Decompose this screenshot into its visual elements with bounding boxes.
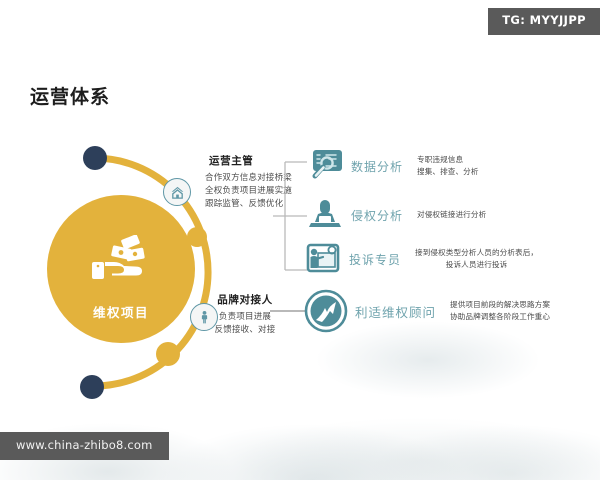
hand-money-icon [90, 235, 152, 285]
home-icon [170, 185, 185, 200]
block-heading: 品牌对接人 [193, 292, 297, 307]
role-desc-line: 对侵权链接进行分析 [417, 209, 486, 221]
role-desc-line: 协助品牌调整各阶段工作重心 [450, 311, 550, 323]
role-desc-line: 专职违规信息 [417, 154, 479, 166]
role-row-data-analysis: 数据分析 专职违规信息 搜集、排查、分析 [305, 146, 479, 186]
page-title: 运营体系 [30, 82, 110, 109]
home-node [163, 178, 191, 206]
gold-dot-bottom [156, 342, 180, 366]
role-row-infringement-analysis: 侵权分析 对侵权链接进行分析 [305, 195, 486, 235]
role-title: 利适维权顾问 [355, 302, 436, 321]
tg-watermark-tag: TG: MYYJJPP [488, 8, 600, 35]
role-desc-line: 搜集、排查、分析 [417, 166, 479, 178]
navy-dot-bottom [80, 375, 104, 399]
role-row-complaint-specialist: 投诉专员 接到侵权类型分析人员的分析表后， 投诉人员进行投诉 [303, 239, 538, 279]
block-line: 反馈接收、对接 [193, 324, 297, 337]
role-row-rights-advisor: 利适维权顾问 提供项目前段的解决思路方案 协助品牌调整各阶段工作重心 [303, 288, 550, 334]
role-desc: 对侵权链接进行分析 [417, 209, 486, 221]
monitor-search-icon [305, 146, 345, 186]
person-desk-icon [305, 195, 345, 235]
hub-circle: 维权项目 [47, 195, 195, 343]
block-body: 负责项目进展 反馈接收、对接 [193, 311, 297, 337]
site-url-watermark: www.china-zhibo8.com [0, 432, 169, 461]
role-title: 投诉专员 [349, 251, 401, 268]
role-desc: 接到侵权类型分析人员的分析表后， 投诉人员进行投诉 [415, 247, 538, 271]
hub-label: 维权项目 [93, 302, 149, 321]
role-title: 侵权分析 [351, 207, 403, 224]
navy-dot-top [83, 146, 107, 170]
role-desc-line: 接到侵权类型分析人员的分析表后， [415, 247, 538, 259]
role-desc-line: 投诉人员进行投诉 [415, 259, 538, 271]
growth-arrow-icon [303, 288, 349, 334]
role-title: 数据分析 [351, 158, 403, 175]
connector-line-advisor [270, 310, 306, 312]
person-board-icon [303, 239, 343, 279]
slide-canvas: TG: MYYJJPP 运营体系 维权项目 [0, 0, 600, 480]
block-brand-liaison: 品牌对接人 负责项目进展 反馈接收、对接 [193, 292, 297, 337]
role-desc: 专职违规信息 搜集、排查、分析 [417, 154, 479, 178]
block-line: 负责项目进展 [193, 311, 297, 324]
role-desc-line: 提供项目前段的解决思路方案 [450, 299, 550, 311]
role-desc: 提供项目前段的解决思路方案 协助品牌调整各阶段工作重心 [450, 299, 550, 323]
